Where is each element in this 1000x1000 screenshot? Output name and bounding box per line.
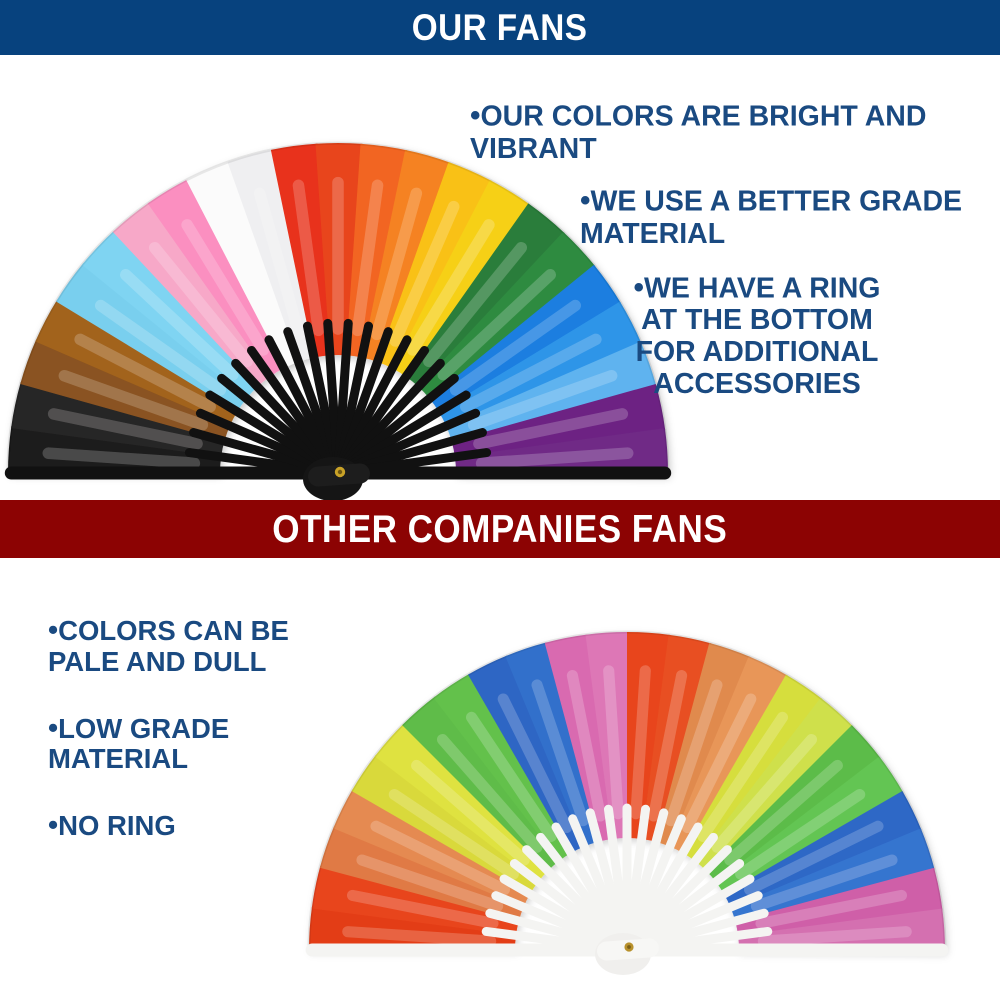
our-fans-title: OUR FANS <box>412 9 588 46</box>
other-companies-fan-image <box>285 598 955 998</box>
bullet-dot-icon: • <box>470 99 480 132</box>
bullet-dot-icon: • <box>634 271 644 304</box>
benefit-bullet-1: •OUR COLORS ARE BRIGHT AND VIBRANT <box>470 101 990 165</box>
drawback-bullet-3: •NO RING <box>48 811 378 842</box>
our-fans-section: •OUR COLORS ARE BRIGHT AND VIBRANT •WE U… <box>0 55 1000 500</box>
other-companies-section: •COLORS CAN BE PALE AND DULL •LOW GRADE … <box>0 558 1000 1000</box>
bullet-dot-icon: • <box>580 184 590 217</box>
drawback-bullet-2: •LOW GRADE MATERIAL <box>48 714 378 776</box>
other-companies-title: OTHER COMPANIES FANS <box>273 510 728 549</box>
benefit-bullet-2: •WE USE A BETTER GRADE MATERIAL <box>470 186 990 250</box>
bullet-dot-icon: • <box>48 614 58 646</box>
bullet-dot-icon: • <box>48 810 58 842</box>
bullet-dot-icon: • <box>48 712 58 744</box>
other-companies-drawbacks-list: •COLORS CAN BE PALE AND DULL •LOW GRADE … <box>48 616 378 842</box>
our-fan-pivot <box>303 457 371 501</box>
other-companies-banner: OTHER COMPANIES FANS <box>0 500 1000 558</box>
other-companies-fan-pivot <box>595 933 660 975</box>
our-fans-benefits-list: •OUR COLORS ARE BRIGHT AND VIBRANT •WE U… <box>470 101 990 401</box>
benefit-bullet-3: •WE HAVE A RING AT THE BOTTOM FOR ADDITI… <box>470 273 990 401</box>
drawback-bullet-1: •COLORS CAN BE PALE AND DULL <box>48 616 378 678</box>
our-fans-banner: OUR FANS <box>0 0 1000 55</box>
infographic-page: OUR FANS <box>0 0 1000 1000</box>
